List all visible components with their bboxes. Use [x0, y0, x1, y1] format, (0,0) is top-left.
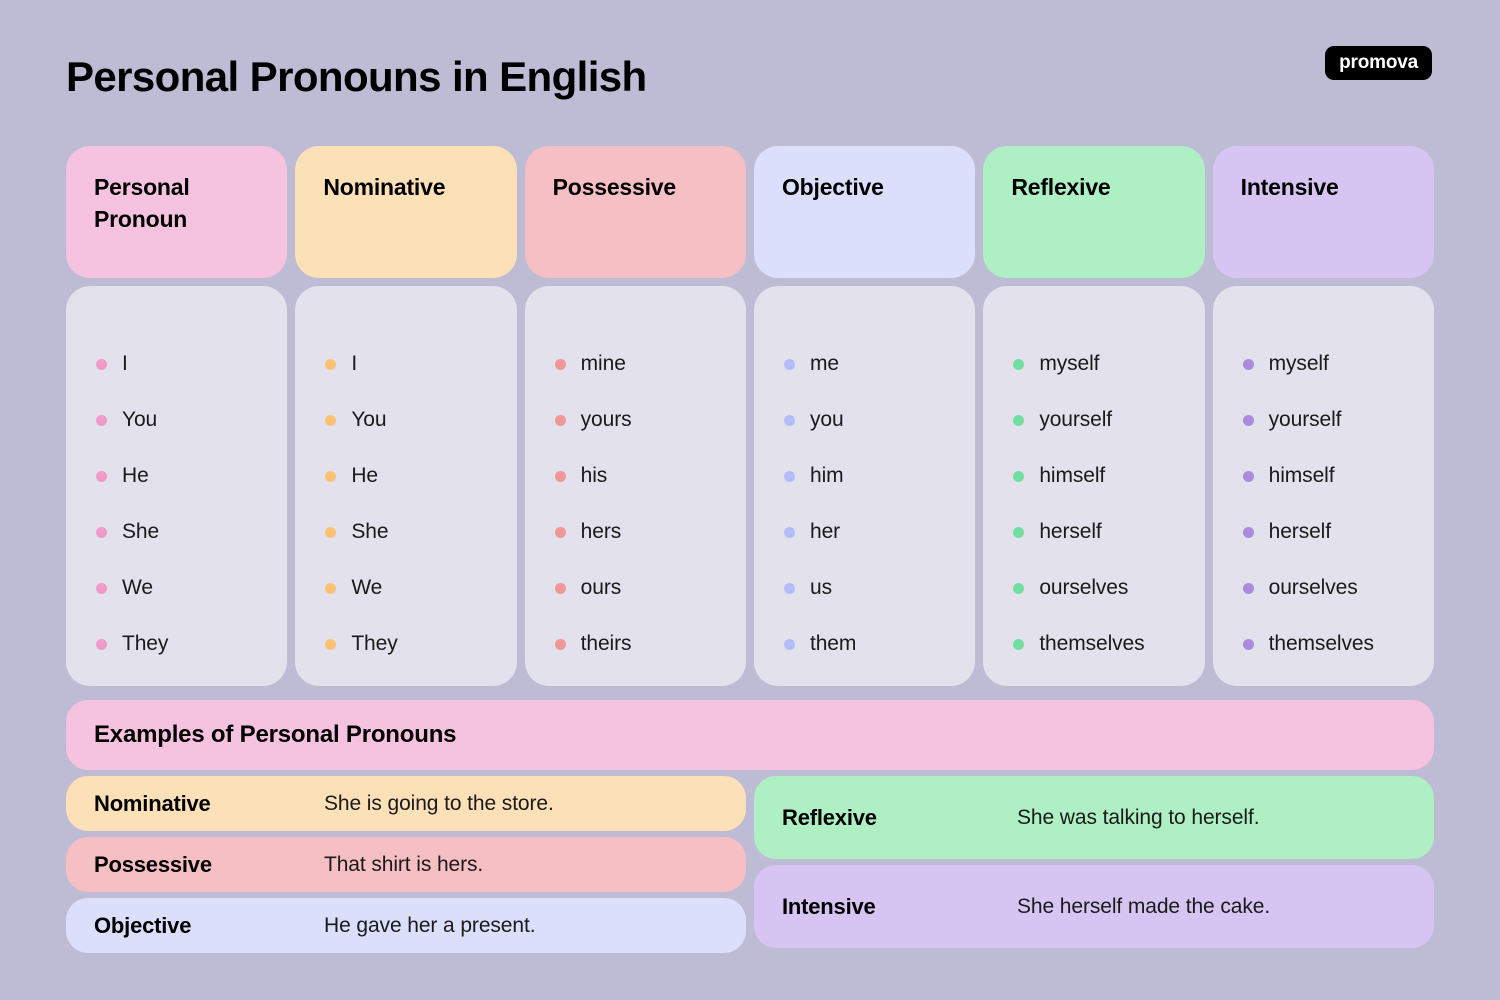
bullet-icon [325, 415, 336, 426]
list-item-label: herself [1039, 520, 1101, 544]
pronoun-table: Personal Pronoun Nominative Possessive O… [66, 146, 1434, 686]
bullet-icon [325, 583, 336, 594]
list-item-label: He [122, 464, 149, 488]
list-item-label: I [351, 352, 357, 376]
list-item: himself [1243, 448, 1434, 504]
list-item-label: They [351, 632, 397, 656]
list-item-label: themselves [1269, 632, 1374, 656]
bullet-icon [1013, 583, 1024, 594]
bullet-icon [555, 471, 566, 482]
list-item-label: them [810, 632, 856, 656]
list-item: She [325, 504, 516, 560]
list-item-label: myself [1269, 352, 1329, 376]
bullet-icon [96, 583, 107, 594]
bullet-icon [784, 471, 795, 482]
list-item: You [325, 392, 516, 448]
bullet-icon [784, 639, 795, 650]
pronoun-list-nominative: IYouHeSheWeThey [295, 286, 516, 686]
list-item-label: his [581, 464, 608, 488]
example-label: Possessive [94, 852, 324, 878]
list-item: his [555, 448, 746, 504]
list-item: You [96, 392, 287, 448]
bullet-icon [96, 415, 107, 426]
list-item: me [784, 336, 975, 392]
column-header-objective: Objective [754, 146, 975, 278]
example-row-reflexive: ReflexiveShe was talking to herself. [754, 776, 1434, 859]
list-item: us [784, 560, 975, 616]
pronoun-list: myselfyourselfhimselfherselfourselvesthe… [1013, 336, 1204, 672]
list-item-label: you [810, 408, 844, 432]
example-label: Reflexive [782, 805, 1017, 831]
bullet-icon [1013, 527, 1024, 538]
example-label: Intensive [782, 894, 1017, 920]
list-item-label: him [810, 464, 844, 488]
column-header-reflexive: Reflexive [983, 146, 1204, 278]
list-item: They [325, 616, 516, 672]
list-item: herself [1243, 504, 1434, 560]
pronoun-list: meyouhimherusthem [784, 336, 975, 672]
list-item-label: yourself [1039, 408, 1112, 432]
bullet-icon [784, 415, 795, 426]
page-header: Personal Pronouns in English promova [0, 0, 1500, 140]
example-label: Objective [94, 913, 324, 939]
list-item-label: ours [581, 576, 621, 600]
pronoun-list: IYouHeSheWeThey [325, 336, 516, 672]
list-item-label: We [351, 576, 382, 600]
list-item: theirs [555, 616, 746, 672]
list-item: yourself [1013, 392, 1204, 448]
list-item-label: themselves [1039, 632, 1144, 656]
bullet-icon [325, 359, 336, 370]
bullet-icon [96, 471, 107, 482]
bullet-icon [555, 359, 566, 370]
bullet-icon [784, 583, 795, 594]
list-item-label: himself [1039, 464, 1105, 488]
list-item-label: You [122, 408, 157, 432]
example-row-nominative: NominativeShe is going to the store. [66, 776, 746, 831]
examples-banner-title: Examples of Personal Pronouns [66, 700, 1434, 770]
list-item: herself [1013, 504, 1204, 560]
table-header-row: Personal Pronoun Nominative Possessive O… [66, 146, 1434, 278]
list-item-label: me [810, 352, 839, 376]
examples-column-left: NominativeShe is going to the store.Poss… [66, 776, 746, 953]
bullet-icon [1013, 639, 1024, 650]
column-header-personal-pronoun: Personal Pronoun [66, 146, 287, 278]
list-item: her [784, 504, 975, 560]
page-title: Personal Pronouns in English [66, 56, 647, 98]
bullet-icon [1243, 527, 1254, 538]
pronoun-list: myselfyourselfhimselfherselfourselvesthe… [1243, 336, 1434, 672]
list-item: ourselves [1013, 560, 1204, 616]
examples-column-right: ReflexiveShe was talking to herself.Inte… [754, 776, 1434, 953]
bullet-icon [96, 359, 107, 370]
example-row-objective: ObjectiveHe gave her a present. [66, 898, 746, 953]
list-item: them [784, 616, 975, 672]
bullet-icon [555, 415, 566, 426]
list-item-label: ourselves [1269, 576, 1358, 600]
list-item: you [784, 392, 975, 448]
example-row-intensive: IntensiveShe herself made the cake. [754, 865, 1434, 948]
bullet-icon [555, 527, 566, 538]
list-item: yours [555, 392, 746, 448]
list-item-label: She [351, 520, 388, 544]
list-item-label: her [810, 520, 840, 544]
list-item: themselves [1243, 616, 1434, 672]
pronoun-list: IYouHeSheWeThey [96, 336, 287, 672]
column-header-possessive: Possessive [525, 146, 746, 278]
bullet-icon [555, 639, 566, 650]
list-item-label: us [810, 576, 832, 600]
bullet-icon [1013, 359, 1024, 370]
list-item-label: ourselves [1039, 576, 1128, 600]
list-item-label: himself [1269, 464, 1335, 488]
list-item-label: herself [1269, 520, 1331, 544]
list-item: We [96, 560, 287, 616]
list-item-label: theirs [581, 632, 632, 656]
bullet-icon [1243, 471, 1254, 482]
table-list-row: IYouHeSheWeThey IYouHeSheWeThey mineyour… [66, 286, 1434, 686]
bullet-icon [1013, 471, 1024, 482]
list-item: We [325, 560, 516, 616]
bullet-icon [784, 359, 795, 370]
bullet-icon [1243, 415, 1254, 426]
bullet-icon [325, 639, 336, 650]
list-item: themselves [1013, 616, 1204, 672]
list-item-label: We [122, 576, 153, 600]
pronoun-list-objective: meyouhimherusthem [754, 286, 975, 686]
bullet-icon [1243, 583, 1254, 594]
list-item-label: hers [581, 520, 621, 544]
example-sentence: She is going to the store. [324, 792, 554, 816]
example-sentence: She herself made the cake. [1017, 895, 1270, 919]
bullet-icon [96, 639, 107, 650]
bullet-icon [555, 583, 566, 594]
column-header-intensive: Intensive [1213, 146, 1434, 278]
list-item: I [96, 336, 287, 392]
list-item: mine [555, 336, 746, 392]
example-label: Nominative [94, 791, 324, 817]
list-item-label: yourself [1269, 408, 1342, 432]
examples-body: NominativeShe is going to the store.Poss… [66, 776, 1434, 953]
pronoun-list-reflexive: myselfyourselfhimselfherselfourselvesthe… [983, 286, 1204, 686]
list-item: They [96, 616, 287, 672]
list-item-label: You [351, 408, 386, 432]
column-header-nominative: Nominative [295, 146, 516, 278]
pronoun-list-intensive: myselfyourselfhimselfherselfourselvesthe… [1213, 286, 1434, 686]
list-item-label: I [122, 352, 128, 376]
example-sentence: He gave her a present. [324, 914, 535, 938]
pronoun-list-personal-pronoun: IYouHeSheWeThey [66, 286, 287, 686]
pronoun-list-possessive: mineyourshishersourstheirs [525, 286, 746, 686]
list-item: myself [1013, 336, 1204, 392]
example-sentence: She was talking to herself. [1017, 806, 1259, 830]
list-item: ourselves [1243, 560, 1434, 616]
list-item: yourself [1243, 392, 1434, 448]
list-item: He [96, 448, 287, 504]
list-item: hers [555, 504, 746, 560]
pronoun-list: mineyourshishersourstheirs [555, 336, 746, 672]
bullet-icon [1013, 415, 1024, 426]
bullet-icon [1243, 359, 1254, 370]
list-item-label: They [122, 632, 168, 656]
list-item: She [96, 504, 287, 560]
list-item-label: myself [1039, 352, 1099, 376]
bullet-icon [784, 527, 795, 538]
promova-logo: promova [1325, 46, 1432, 80]
bullet-icon [1243, 639, 1254, 650]
list-item-label: mine [581, 352, 626, 376]
list-item: myself [1243, 336, 1434, 392]
list-item-label: He [351, 464, 378, 488]
examples-section: Examples of Personal Pronouns Nominative… [66, 700, 1434, 953]
list-item: himself [1013, 448, 1204, 504]
list-item-label: She [122, 520, 159, 544]
list-item: He [325, 448, 516, 504]
list-item-label: yours [581, 408, 632, 432]
list-item: I [325, 336, 516, 392]
bullet-icon [325, 471, 336, 482]
list-item: him [784, 448, 975, 504]
bullet-icon [96, 527, 107, 538]
list-item: ours [555, 560, 746, 616]
example-row-possessive: PossessiveThat shirt is hers. [66, 837, 746, 892]
example-sentence: That shirt is hers. [324, 853, 483, 877]
bullet-icon [325, 527, 336, 538]
